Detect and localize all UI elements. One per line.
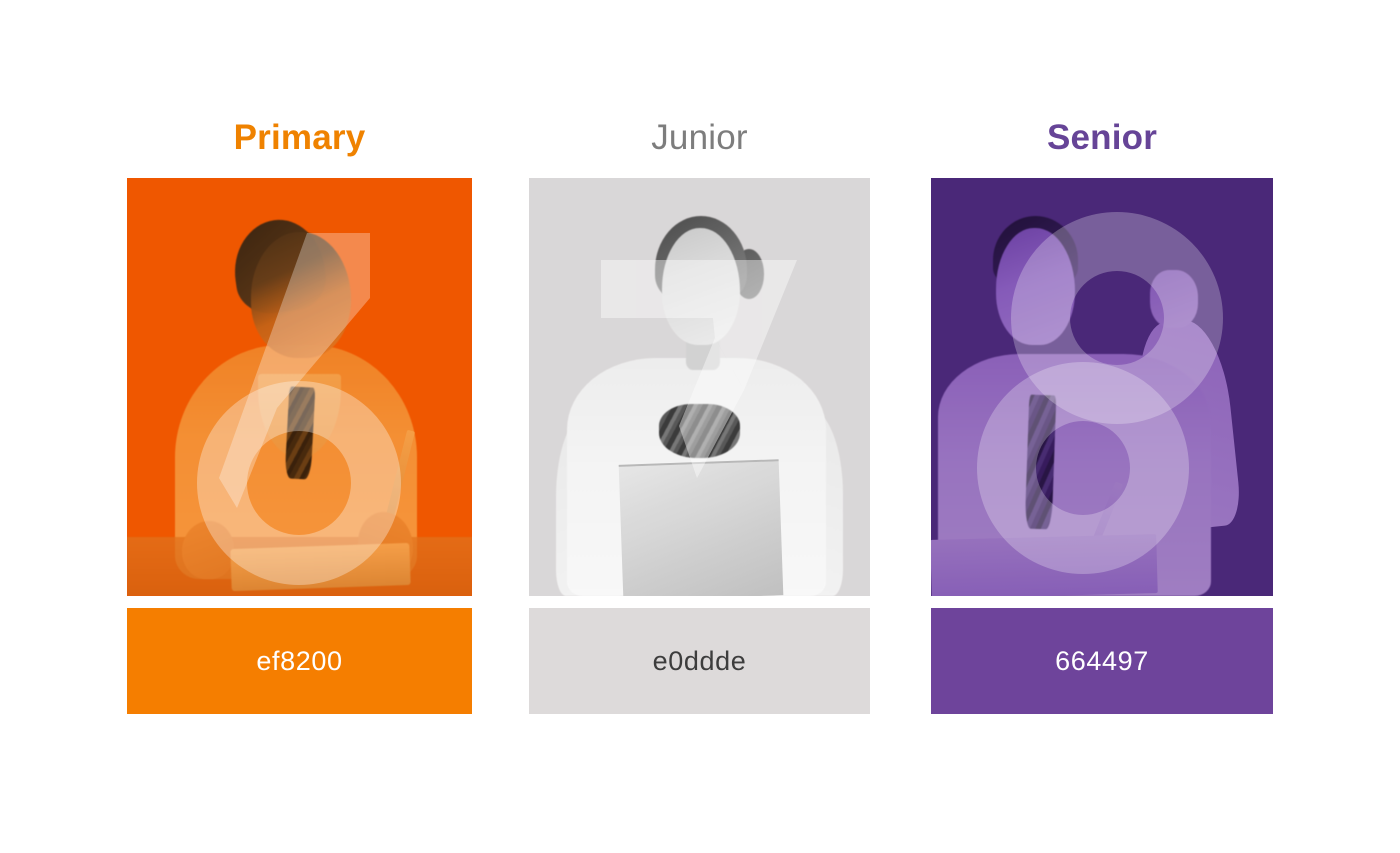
- duotone-overlay-primary: [127, 178, 472, 596]
- swatch-primary[interactable]: ef8200: [127, 608, 472, 714]
- palette-board: Primary: [0, 0, 1400, 853]
- swatch-label-primary: ef8200: [256, 646, 342, 677]
- photo-panel-junior: [529, 178, 870, 596]
- column-title-junior: Junior: [529, 116, 870, 160]
- photo-panel-senior: [931, 178, 1273, 596]
- palette-column-senior: Senior: [931, 0, 1273, 853]
- swatch-label-junior: e0ddde: [653, 646, 747, 677]
- palette-column-primary: Primary: [127, 0, 472, 853]
- photo-panel-primary: [127, 178, 472, 596]
- column-title-primary: Primary: [127, 116, 472, 160]
- swatch-label-senior: 664497: [1055, 646, 1149, 677]
- swatch-junior[interactable]: e0ddde: [529, 608, 870, 714]
- column-title-senior: Senior: [931, 116, 1273, 160]
- palette-column-junior: Junior: [529, 0, 870, 853]
- swatch-senior[interactable]: 664497: [931, 608, 1273, 714]
- duotone-overlay-senior: [931, 178, 1273, 596]
- duotone-overlay-junior: [529, 178, 870, 596]
